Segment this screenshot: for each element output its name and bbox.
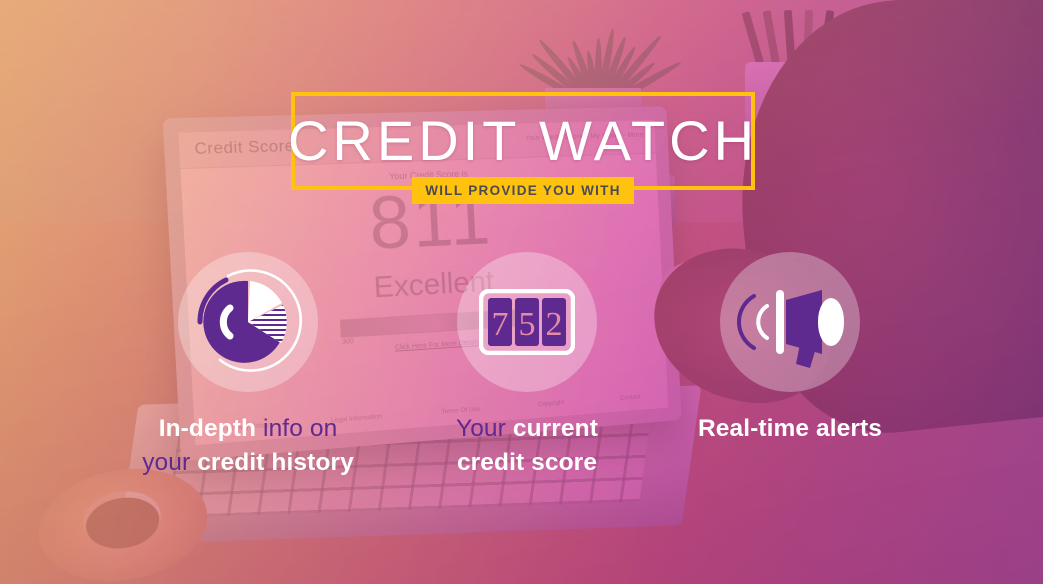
caption-muted-1: info on (263, 415, 337, 442)
credit-score-digits-icon: 7 5 2 (479, 289, 575, 355)
feature-icon-circle (720, 252, 860, 392)
feature-caption: Real-time alerts (640, 412, 940, 446)
feature-caption: In-depth info on your credit history (98, 412, 398, 480)
subtitle-text: WILL PROVIDE YOU WITH (425, 183, 621, 198)
caption-strong-1: Real-time alerts (698, 415, 882, 442)
feature-caption: Your current credit score (377, 412, 677, 480)
feature-item-alerts: Real-time alerts (640, 252, 940, 446)
slide-canvas: Credit Score Your Credit Score · My Scor… (0, 0, 1043, 584)
feature-item-credit-history: In-depth info on your credit history (98, 252, 398, 480)
svg-text:2: 2 (546, 306, 563, 343)
feature-icon-circle (178, 252, 318, 392)
megaphone-icon (734, 272, 846, 372)
caption-strong-1: In-depth (159, 415, 256, 442)
caption-muted-2: your (142, 449, 190, 476)
caption-strong-2: credit history (197, 449, 354, 476)
feature-icon-circle: 7 5 2 (457, 252, 597, 392)
feature-list: In-depth info on your credit history 7 5… (0, 252, 1043, 492)
svg-text:5: 5 (519, 306, 536, 343)
feature-item-credit-score: 7 5 2 Your current credit score (377, 252, 677, 480)
caption-strong-1: current (513, 415, 598, 442)
caption-muted-1: Your (456, 415, 506, 442)
caption-strong-2: credit score (457, 449, 597, 476)
page-title: CREDIT WATCH (291, 92, 755, 190)
svg-text:7: 7 (492, 306, 509, 343)
pie-chart-icon (190, 264, 306, 380)
subtitle-band: WILL PROVIDE YOU WITH (412, 177, 634, 204)
